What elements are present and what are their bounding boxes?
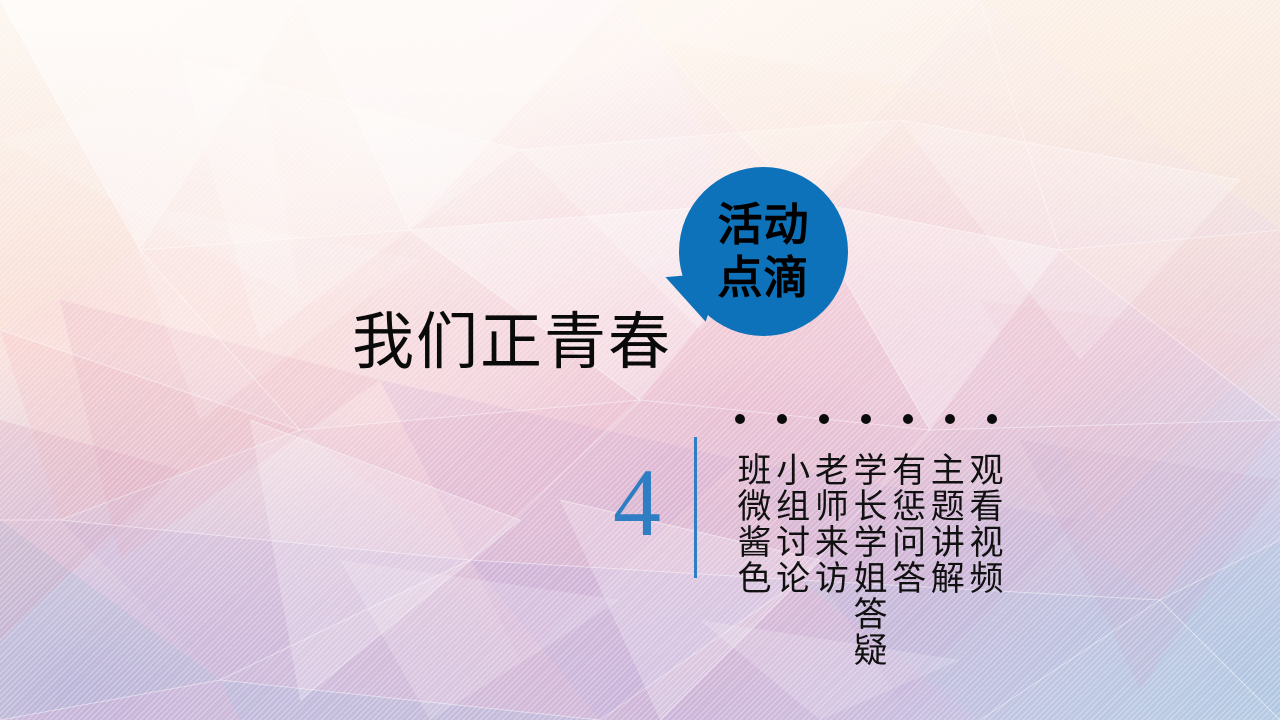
bullet-dot (861, 414, 871, 424)
activity-item: 学长学姐答疑 (849, 452, 885, 668)
bullet-dot-row (735, 413, 997, 425)
activity-item-columns: 观看视频 主题讲解 有惩问答 学长学姐答疑 老师来访 小组讨论 班微酱色 (733, 452, 1001, 668)
bullet-dot (819, 414, 829, 424)
activity-item: 班微酱色 (733, 452, 769, 668)
presentation-slide: 活动 点滴 我们正青春 4 观看视频 主题讲解 有惩问答 学长学姐答疑 老师来访… (0, 0, 1280, 720)
bullet-dot (987, 414, 997, 424)
section-number: 4 (613, 455, 661, 551)
bubble-text-line1: 活动 (717, 199, 809, 251)
bullet-dot (777, 414, 787, 424)
vertical-divider-rule (694, 437, 697, 578)
activity-item: 小组讨论 (772, 452, 808, 668)
activity-badge-bubble: 活动 点滴 (679, 167, 848, 336)
activity-item: 主题讲解 (926, 452, 962, 668)
slide-title: 我们正青春 (352, 312, 672, 374)
bullet-dot (735, 414, 745, 424)
activity-item: 观看视频 (965, 452, 1001, 668)
bullet-dot (903, 414, 913, 424)
bubble-text-line2: 点滴 (717, 252, 809, 304)
activity-item: 老师来访 (810, 452, 846, 668)
activity-item: 有惩问答 (888, 452, 924, 668)
bubble-text: 活动 点滴 (679, 167, 848, 336)
bullet-dot (945, 414, 955, 424)
